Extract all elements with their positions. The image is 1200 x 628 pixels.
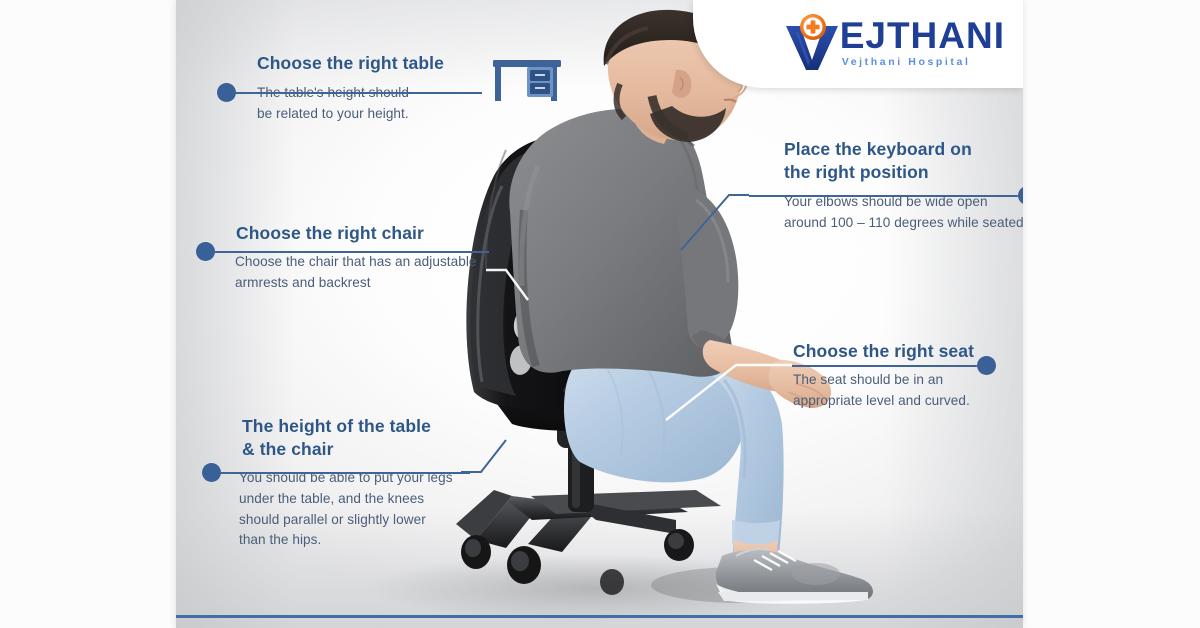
callout-rule <box>792 365 982 367</box>
callout-choose-the-right-chair[interactable]: Choose the right chair Choose the chair … <box>196 222 497 293</box>
brand-logo[interactable]: EJTHANI Vejthani Hospital <box>782 12 1005 72</box>
desk-icon <box>491 54 563 104</box>
callout-dot <box>202 463 221 482</box>
infographic-panel: Choose the right table The table's heigh… <box>176 0 1023 628</box>
callout-heading-line: Place the keyboard on <box>784 138 999 161</box>
callout-place-the-keyboard[interactable]: Place the keyboard on the right position… <box>726 138 1023 234</box>
callout-body-line: armrests and backrest <box>235 273 497 294</box>
panel-bottom-rule <box>176 615 1023 618</box>
vejthani-v-cross-logo-icon <box>782 12 844 72</box>
infographic-canvas: Choose the right table The table's heigh… <box>0 0 1200 628</box>
callout-body-line: under the table, and the knees <box>239 489 479 510</box>
callout-body-line: should parallel or slightly lower <box>239 510 479 531</box>
callout-body-line: appropriate level and curved. <box>793 391 998 412</box>
callout-dot <box>977 356 996 375</box>
callout-body: Your elbows should be wide open around 1… <box>784 192 1023 233</box>
callout-body: The table's height should be related to … <box>257 83 467 124</box>
brand-wordmark: EJTHANI Vejthani Hospital <box>840 12 1005 68</box>
callout-heading-line: the right position <box>784 161 999 184</box>
callout-body-line: around 100 – 110 degrees while seated <box>784 213 1023 234</box>
callout-heading: Choose the right chair <box>236 222 497 245</box>
callout-choose-the-right-table[interactable]: Choose the right table The table's heigh… <box>216 52 467 124</box>
brand-tagline: Vejthani Hospital <box>842 56 1005 68</box>
chair-seat <box>494 362 700 431</box>
callout-choose-the-right-seat[interactable]: Choose the right seat The seat should be… <box>788 340 998 411</box>
callout-heading: Choose the right table <box>257 52 467 75</box>
callout-heading: The height of the table & the chair <box>242 415 472 461</box>
callout-rule <box>234 92 482 94</box>
callout-height-of-table-and-chair[interactable]: The height of the table & the chair You … <box>202 415 479 551</box>
callout-body: The seat should be in an appropriate lev… <box>793 370 998 411</box>
callout-body-line: be related to your height. <box>257 104 467 125</box>
callout-heading: Choose the right seat <box>793 340 998 363</box>
person-legs <box>564 354 784 578</box>
sneaker <box>716 549 873 604</box>
chair-base <box>456 490 721 595</box>
callout-rule <box>220 472 470 474</box>
callout-body: Choose the chair that has an adjustable … <box>235 252 497 293</box>
brand-name: EJTHANI <box>840 17 1005 54</box>
callout-body: You should be able to put your legs unde… <box>239 468 479 551</box>
callout-heading: Place the keyboard on the right position <box>784 138 999 184</box>
callout-rule <box>214 251 489 253</box>
callout-body-line: Choose the chair that has an adjustable <box>235 252 497 273</box>
callout-rule <box>749 195 1023 197</box>
callout-dot <box>196 242 215 261</box>
callout-heading-line: & the chair <box>242 438 472 461</box>
logo-banner[interactable]: EJTHANI Vejthani Hospital <box>693 0 1023 88</box>
person-torso <box>509 109 732 377</box>
callout-body-line: The seat should be in an <box>793 370 998 391</box>
panel-vignette-right <box>883 0 1023 628</box>
chair-armrest <box>568 315 688 368</box>
callout-body-line: than the hips. <box>239 530 479 551</box>
callout-heading-line: The height of the table <box>242 415 472 438</box>
